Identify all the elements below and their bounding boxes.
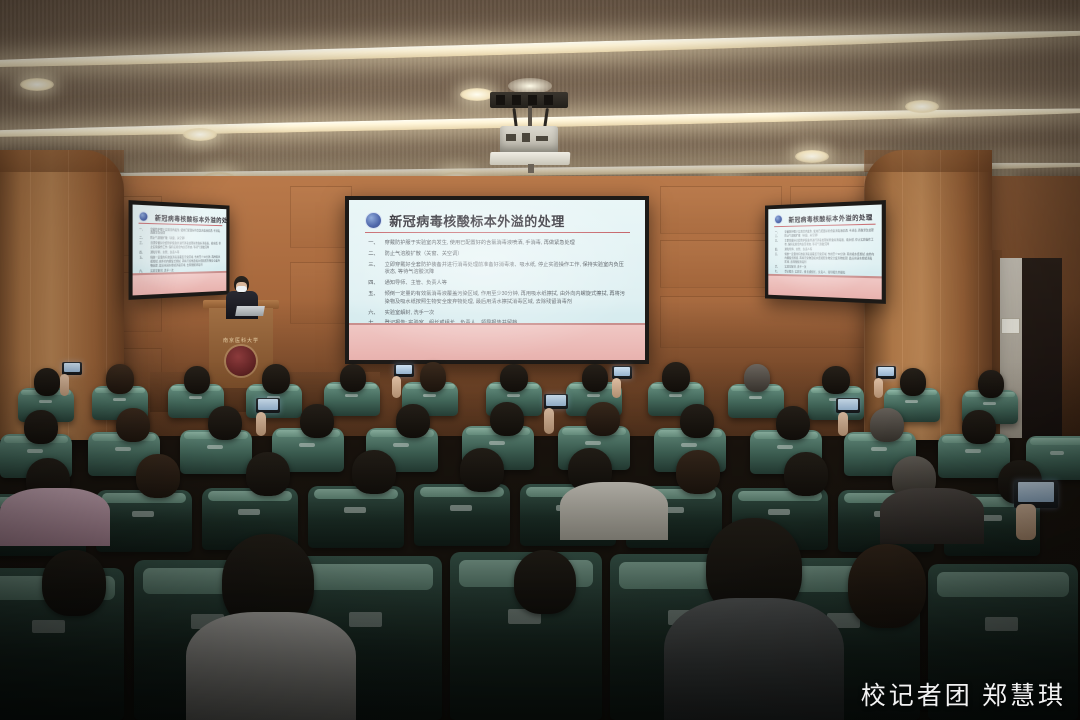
slide-main: 新冠病毒核酸标本外溢的处理 一、穿戴防护服于实验室内发生, 使用已配置好的含氯消… — [349, 200, 645, 360]
slide-title: 新冠病毒核酸标本外溢的处理 — [155, 212, 226, 224]
side-projection-screen-right: 新冠病毒核酸标本外溢的处理 一、穿戴防护服于实验室内发生, 使用已配置好的含氯消… — [765, 200, 886, 304]
slide-list-item: 三、立即穿戴好全套防护装备并进行消毒处理前准备好消毒液、吸水纸, 停止实验操作工… — [368, 262, 629, 278]
notice-sign — [1001, 318, 1020, 334]
slide-title: 新冠病毒核酸标本外溢的处理 — [389, 211, 565, 230]
ceiling-projector-icon — [484, 92, 576, 174]
slide-list-item: 二、防止气溶胶扩散（关窗、关空调） — [368, 251, 629, 259]
slide-list-item: 六、实验室解封, 洗手一次 — [368, 310, 629, 318]
slide-list-item: 五、倾倒一定量的有效氯消毒液覆盖污染区域, 作用至少30分钟, 再用吸水纸擦拭,… — [775, 253, 875, 265]
audience-shading — [0, 362, 1080, 720]
university-crest-icon — [138, 211, 148, 222]
main-projection-screen: 新冠病毒核酸标本外溢的处理 一、穿戴防护服于实验室内发生, 使用已配置好的含氯消… — [345, 196, 649, 364]
side-projection-screen-left: 新冠病毒核酸标本外溢的处理 一、穿戴防护服于实验室内发生, 使用已配置好的含氯消… — [129, 200, 230, 300]
slide-list-item: 五、倾倒一定量的有效氯消毒液覆盖污染区域, 作用至少30分钟, 再用吸水纸擦拭,… — [139, 256, 221, 269]
slide-left: 新冠病毒核酸标本外溢的处理 一、穿戴防护服于实验室内发生, 使用已配置好的含氯消… — [133, 205, 227, 296]
column-capital — [864, 150, 992, 172]
projector-body — [500, 126, 558, 154]
slide-right: 新冠病毒核酸标本外溢的处理 一、穿戴防护服于实验室内发生, 使用已配置好的含氯消… — [768, 204, 881, 299]
podium-laptop — [235, 306, 265, 316]
downlight — [183, 128, 217, 141]
slide-title: 新冠病毒核酸标本外溢的处理 — [789, 212, 873, 224]
podium-emblem-label: 南京医科大学 — [222, 337, 260, 344]
slide-list-item: 五、倾倒一定量的有效氯消毒液覆盖污染区域, 作用至少30分钟, 再用吸水纸擦拭,… — [368, 291, 629, 307]
slide-list-item: 四、通知导师、主管、负责人等 — [775, 248, 875, 252]
column-capital — [0, 150, 124, 172]
slide-list-item: 四、通知导师、主管、负责人等 — [368, 280, 629, 288]
slide-list-item: 三、立即穿戴好全套防护装备并进行消毒处理前准备好消毒液、吸水纸, 停止实验操作工… — [139, 242, 221, 250]
slide-title-rule — [365, 232, 630, 233]
slide-list-item: 一、穿戴防护服于实验室内发生, 使用已配置好的含氯消毒液喷洒, 手消毒, 再做紧… — [139, 227, 221, 236]
university-crest-icon — [365, 212, 382, 229]
downlight — [905, 100, 939, 113]
slide-list-item: 一、穿戴防护服于实验室内发生, 使用已配置好的含氯消毒液喷洒, 手消毒, 再做紧… — [368, 240, 629, 248]
projector-lens-stem — [528, 164, 534, 173]
university-crest-icon — [774, 215, 783, 225]
lecture-hall-photo: 新冠病毒核酸标本外溢的处理 一、穿戴防护服于实验室内发生, 使用已配置好的含氯消… — [0, 0, 1080, 720]
downlight — [20, 78, 54, 91]
audience-area — [0, 362, 1080, 720]
slide-header: 新冠病毒核酸标本外溢的处理 — [365, 211, 565, 230]
face-mask-icon — [236, 286, 247, 292]
photo-credit-watermark: 校记者团 郑慧琪 — [861, 676, 1066, 712]
slide-header: 新冠病毒核酸标本外溢的处理 — [774, 211, 873, 224]
slide-footer-band — [768, 276, 881, 300]
slide-list-item: 四、通知导师、主管、负责人等 — [139, 251, 221, 255]
slide-list-item: 三、立即穿戴好全套防护装备并进行消毒处理前准备好消毒液、吸水纸, 停止实验操作工… — [775, 239, 875, 248]
slide-footer-band — [133, 273, 227, 296]
slide-footer-band — [349, 325, 645, 360]
